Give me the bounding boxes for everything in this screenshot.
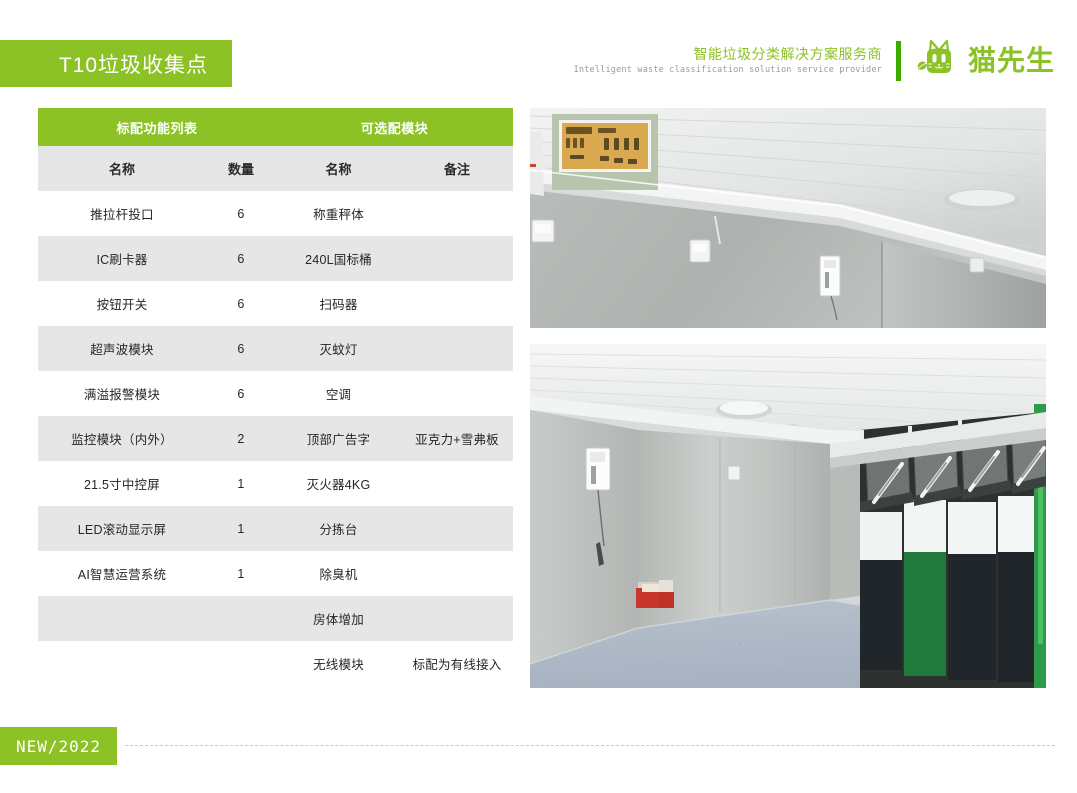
table-row: IC刷卡器 6 240L国标桶 xyxy=(38,236,513,281)
table-row: 满溢报警模块 6 空调 xyxy=(38,371,513,416)
cell-opt-name: 顶部广告字 xyxy=(276,416,401,461)
footer-divider-line xyxy=(125,745,1055,746)
cell-std-name: 超声波模块 xyxy=(38,326,206,371)
cell-qty: 6 xyxy=(206,326,276,371)
cell-opt-name: 称重秤体 xyxy=(276,191,401,236)
cell-remark xyxy=(401,236,513,281)
cell-qty xyxy=(206,596,276,641)
footer-new-badge: NEW/2022 xyxy=(0,727,117,765)
cell-qty: 1 xyxy=(206,461,276,506)
cell-opt-name: 扫码器 xyxy=(276,281,401,326)
cell-qty: 1 xyxy=(206,551,276,596)
cell-remark xyxy=(401,506,513,551)
col-header-opt-name: 名称 xyxy=(276,146,401,191)
photo-container-ceiling xyxy=(530,108,1046,328)
cell-std-name: AI智慧运营系统 xyxy=(38,551,206,596)
table-row: 超声波模块 6 灭蚊灯 xyxy=(38,326,513,371)
cell-opt-name: 空调 xyxy=(276,371,401,416)
cell-opt-name: 灭蚊灯 xyxy=(276,326,401,371)
brand-tagline-en: Intelligent waste classification solutio… xyxy=(574,63,882,77)
cell-opt-name: 240L国标桶 xyxy=(276,236,401,281)
cell-remark: 亚克力+雪弗板 xyxy=(401,416,513,461)
cell-remark xyxy=(401,596,513,641)
cell-std-name: 推拉杆投口 xyxy=(38,191,206,236)
table-row: 无线模块 标配为有线接入 xyxy=(38,641,513,686)
cell-qty: 2 xyxy=(206,416,276,461)
brand-logo: 猫先生 xyxy=(915,38,1055,84)
brand-block: 智能垃圾分类解决方案服务商 Intelligent waste classifi… xyxy=(574,38,1055,84)
table-group-header-row: 标配功能列表 可选配模块 xyxy=(38,108,513,146)
cell-opt-name: 除臭机 xyxy=(276,551,401,596)
cell-qty xyxy=(206,641,276,686)
cell-qty: 6 xyxy=(206,281,276,326)
table-row: AI智慧运营系统 1 除臭机 xyxy=(38,551,513,596)
col-header-remark: 备注 xyxy=(401,146,513,191)
footer-badge-label: NEW/2022 xyxy=(16,737,101,756)
cell-opt-name: 分拣台 xyxy=(276,506,401,551)
slide-page: T10垃圾收集点 智能垃圾分类解决方案服务商 Intelligent waste… xyxy=(0,0,1077,793)
table-row: LED滚动显示屏 1 分拣台 xyxy=(38,506,513,551)
cell-std-name: 21.5寸中控屏 xyxy=(38,461,206,506)
cell-opt-name: 房体增加 xyxy=(276,596,401,641)
cell-std-name: LED滚动显示屏 xyxy=(38,506,206,551)
cell-remark: 标配为有线接入 xyxy=(401,641,513,686)
col-header-std-name: 名称 xyxy=(38,146,206,191)
photo-container-bins xyxy=(530,344,1046,688)
cell-std-name: 监控模块（内外） xyxy=(38,416,206,461)
table-row: 监控模块（内外） 2 顶部广告字 亚克力+雪弗板 xyxy=(38,416,513,461)
cell-remark xyxy=(401,281,513,326)
brand-name: 猫先生 xyxy=(968,46,1055,76)
cell-remark xyxy=(401,371,513,416)
table-row: 房体增加 xyxy=(38,596,513,641)
cell-qty: 6 xyxy=(206,371,276,416)
page-title-banner: T10垃圾收集点 xyxy=(0,40,232,87)
group-header-optional: 可选配模块 xyxy=(276,108,513,146)
table-row: 21.5寸中控屏 1 灭火器4KG xyxy=(38,461,513,506)
brand-tagline-cn: 智能垃圾分类解决方案服务商 xyxy=(574,45,882,63)
cell-qty: 6 xyxy=(206,236,276,281)
table-column-header-row: 名称 数量 名称 备注 xyxy=(38,146,513,191)
cat-logo-icon xyxy=(915,38,961,84)
cell-qty: 6 xyxy=(206,191,276,236)
cell-std-name: 按钮开关 xyxy=(38,281,206,326)
cell-qty: 1 xyxy=(206,506,276,551)
cell-std-name xyxy=(38,641,206,686)
cell-std-name: 满溢报警模块 xyxy=(38,371,206,416)
group-header-standard: 标配功能列表 xyxy=(38,108,276,146)
col-header-qty: 数量 xyxy=(206,146,276,191)
cell-std-name: IC刷卡器 xyxy=(38,236,206,281)
cell-remark xyxy=(401,461,513,506)
cell-opt-name: 灭火器4KG xyxy=(276,461,401,506)
page-title: T10垃圾收集点 xyxy=(59,49,208,79)
table-row: 按钮开关 6 扫码器 xyxy=(38,281,513,326)
cell-std-name xyxy=(38,596,206,641)
cell-remark xyxy=(401,551,513,596)
brand-tagline: 智能垃圾分类解决方案服务商 Intelligent waste classifi… xyxy=(574,45,894,77)
spec-table: 标配功能列表 可选配模块 名称 数量 名称 备注 推拉杆投口 6 称重秤体 IC… xyxy=(38,108,513,686)
cell-opt-name: 无线模块 xyxy=(276,641,401,686)
cell-remark xyxy=(401,326,513,371)
brand-divider xyxy=(896,41,901,81)
cell-remark xyxy=(401,191,513,236)
table-row: 推拉杆投口 6 称重秤体 xyxy=(38,191,513,236)
